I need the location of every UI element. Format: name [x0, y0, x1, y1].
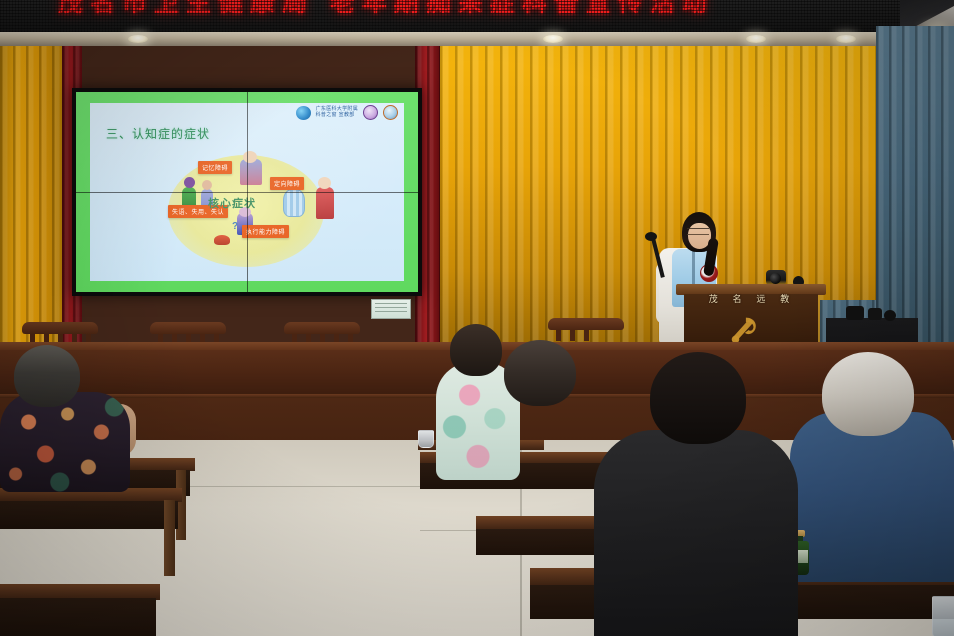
screen-glare: [76, 92, 418, 292]
led-pixel-grid: [0, 0, 900, 32]
attendee-front-left-head: [14, 345, 80, 407]
attendee-right-head: [822, 352, 914, 436]
attendee-center-front-body: [486, 390, 598, 530]
ceiling-spotlight-2: [543, 35, 563, 43]
led-scrolling-banner: 茂名市卫生健康局 老年期痴呆症科普宣传活动: [0, 0, 900, 32]
av-device-3: [884, 310, 896, 321]
attendee-right-body: [790, 412, 954, 582]
microphone-icon: [645, 232, 657, 241]
auditorium-photo: 茂名市卫生健康局 老年期痴呆症科普宣传活动 三、认知症的症状 广东医科大学附属科…: [0, 0, 954, 636]
water-bottle-right: [932, 596, 954, 636]
ceiling-spotlight-4: [836, 35, 856, 43]
curtain-yellow-left: [0, 46, 70, 346]
desk-leg-left-2: [164, 500, 175, 576]
camera-lens-icon: [770, 273, 781, 284]
attendee-center-front-head: [504, 340, 576, 406]
projection-screen: 三、认知症的症状 广东医科大学附属科普之窗 宣教部 ? 记忆障碍: [76, 92, 418, 292]
stage-chair-4: [548, 318, 624, 342]
desk-row-left-3-front: [0, 598, 156, 636]
ceiling-spotlight-3: [746, 35, 766, 43]
speaker-glasses-icon: [687, 228, 709, 235]
lectern-label: 茂 名 远 教: [700, 292, 804, 305]
water-cup-3: [418, 430, 434, 448]
attendee-front-left-body: [0, 392, 130, 492]
av-device-1: [846, 306, 864, 320]
attendee-center-back-head: [450, 324, 502, 376]
ceiling-spotlight-1: [128, 35, 148, 43]
attendee-center-right-head: [650, 352, 746, 444]
wall-notice-sign: [371, 299, 411, 319]
attendee-center-right-body: [594, 430, 798, 636]
desk-row-left-2-front: [0, 501, 178, 529]
av-device-2: [868, 308, 882, 320]
curtain-blue-right: [876, 26, 954, 356]
party-emblem-icon: [725, 312, 763, 346]
